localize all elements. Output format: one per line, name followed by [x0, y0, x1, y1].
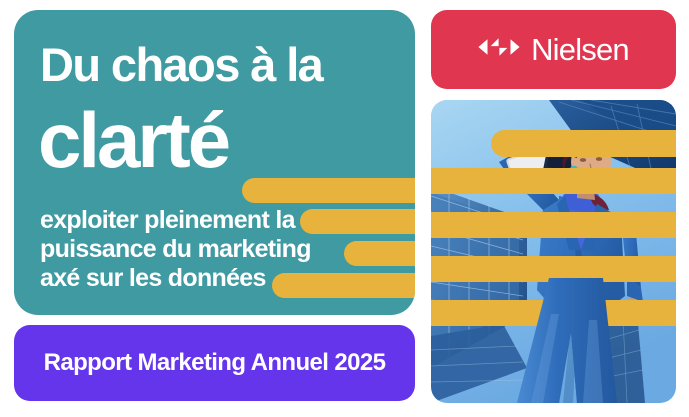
hero-photo-illustration — [431, 100, 676, 403]
headline-line-1: Du chaos à la — [40, 40, 322, 90]
hero-text-block: Du chaos à la clarté exploiter pleinemen… — [14, 10, 415, 315]
nielsen-logo-lockup: Nielsen — [478, 34, 629, 65]
headline-line-2: clarté — [38, 98, 228, 182]
hero-subtitle-line-1: exploiter pleinement la — [40, 206, 311, 235]
hero-subtitle-line-2: puissance du marketing — [40, 235, 311, 264]
poster-canvas: Du chaos à la clarté exploiter pleinemen… — [0, 0, 689, 417]
hero-photo — [431, 100, 676, 403]
hero-panel: Du chaos à la clarté exploiter pleinemen… — [14, 10, 415, 315]
hero-subtitle: exploiter pleinement la puissance du mar… — [40, 206, 311, 293]
nielsen-arrows-mark-icon — [478, 36, 520, 63]
brand-logo-panel: Nielsen — [431, 10, 676, 89]
report-banner-label: Rapport Marketing Annuel 2025 — [44, 349, 386, 377]
hero-subtitle-line-3: axé sur les données — [40, 264, 311, 293]
report-banner: Rapport Marketing Annuel 2025 — [14, 325, 415, 401]
nielsen-wordmark: Nielsen — [531, 34, 629, 65]
